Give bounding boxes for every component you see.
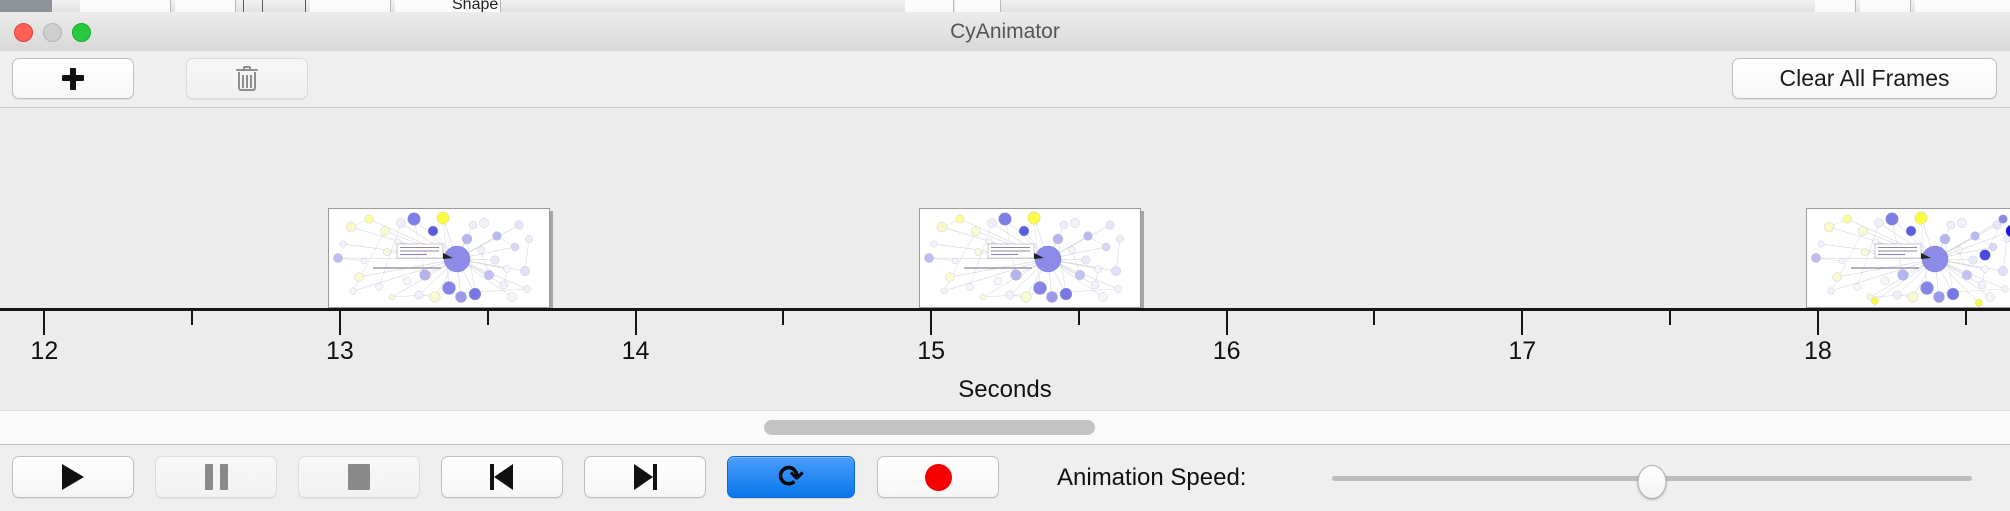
record-icon <box>925 464 952 491</box>
horizontal-scrollbar[interactable] <box>0 410 2010 445</box>
frame-thumbnail-3[interactable] <box>1806 208 2010 308</box>
ruler-tick-major <box>635 311 637 335</box>
maximize-button[interactable] <box>72 23 91 42</box>
ruler-tick-major <box>1521 311 1523 335</box>
minimize-button[interactable] <box>43 23 62 42</box>
stop-icon <box>348 464 370 490</box>
network-thumbnail-image <box>920 209 1140 307</box>
ruler-tick-minor <box>487 311 489 325</box>
close-button[interactable] <box>14 23 33 42</box>
pause-icon <box>205 464 228 490</box>
clear-all-frames-button[interactable]: Clear All Frames <box>1732 58 1997 99</box>
ruler-tick-label: 18 <box>1804 337 1832 366</box>
animation-speed-label: Animation Speed: <box>1057 445 1246 511</box>
axis-title: Seconds <box>0 376 2010 404</box>
scrollbar-thumb[interactable] <box>764 420 1096 435</box>
cyanimator-window: Shape CyAnimator Clear All Frames <box>0 0 2010 510</box>
timeline-ruler[interactable]: Seconds 12131415161718 <box>0 308 2010 410</box>
ruler-tick-minor <box>1669 311 1671 325</box>
ruler-tick-label: 15 <box>917 337 945 366</box>
plus-icon <box>61 67 85 91</box>
ruler-tick-label: 17 <box>1508 337 1536 366</box>
delete-frame-button[interactable] <box>186 58 308 99</box>
record-button[interactable] <box>877 456 999 498</box>
skip-forward-icon <box>632 464 658 490</box>
loop-button[interactable]: ⟳ <box>727 456 855 498</box>
ruler-tick-major <box>1226 311 1228 335</box>
play-icon <box>62 464 84 490</box>
ruler-tick-label: 12 <box>30 337 58 366</box>
loop-icon: ⟳ <box>778 462 804 493</box>
skip-back-icon <box>489 464 515 490</box>
background-window-title: Shape <box>452 0 498 12</box>
stop-button[interactable] <box>298 456 420 498</box>
axis-line <box>0 308 2010 311</box>
add-frame-button[interactable] <box>12 58 134 99</box>
timeline-panel[interactable]: Seconds 12131415161718 <box>0 108 2010 410</box>
ruler-tick-label: 16 <box>1213 337 1241 366</box>
ruler-tick-major <box>1817 311 1819 335</box>
toolbar: Clear All Frames <box>0 51 2010 108</box>
trash-icon <box>236 66 258 92</box>
background-window-strip: Shape <box>0 0 2010 12</box>
ruler-tick-major <box>339 311 341 335</box>
animation-speed-slider[interactable] <box>1332 445 1972 511</box>
frame-thumbnail-2[interactable] <box>919 208 1141 308</box>
ruler-tick-minor <box>191 311 193 325</box>
title-bar[interactable]: CyAnimator <box>0 12 2010 52</box>
ruler-tick-minor <box>1965 311 1967 325</box>
ruler-tick-minor <box>1078 311 1080 325</box>
ruler-tick-label: 13 <box>326 337 354 366</box>
playback-control-bar: Animation Speed: ⟳ <box>0 444 2010 511</box>
network-thumbnail-image <box>329 209 549 307</box>
ruler-tick-minor <box>782 311 784 325</box>
pause-button[interactable] <box>155 456 277 498</box>
ruler-tick-minor <box>1373 311 1375 325</box>
play-button[interactable] <box>12 456 134 498</box>
ruler-tick-major <box>43 311 45 335</box>
traffic-lights <box>14 23 91 42</box>
frame-thumbnail-1[interactable] <box>328 208 550 308</box>
window-title: CyAnimator <box>0 12 2010 51</box>
ruler-tick-major <box>930 311 932 335</box>
slider-knob[interactable] <box>1638 465 1667 499</box>
skip-to-start-button[interactable] <box>441 456 563 498</box>
frame-strip <box>0 108 2010 308</box>
network-thumbnail-image <box>1807 209 2010 307</box>
skip-to-end-button[interactable] <box>584 456 706 498</box>
ruler-tick-label: 14 <box>622 337 650 366</box>
